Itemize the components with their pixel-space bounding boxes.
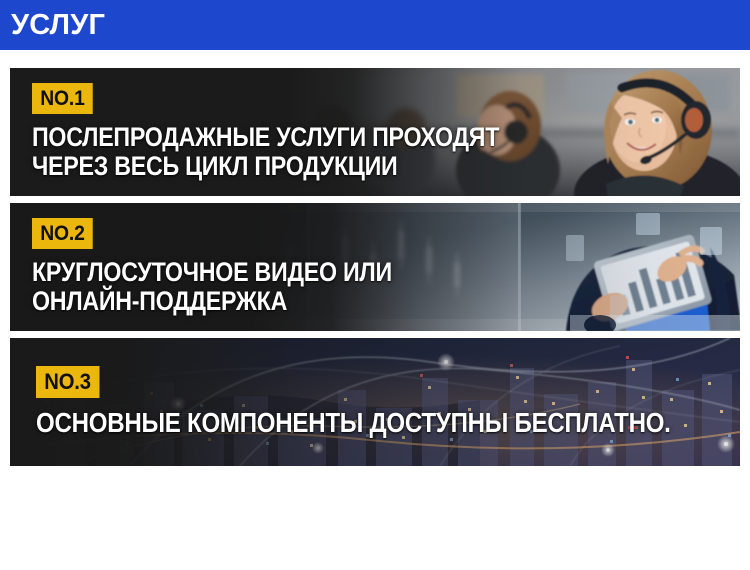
banner-content: NO.3 ОСНОВНЫЕ КОМПОНЕНТЫ ДОСТУПНЫ БЕСПЛА… [36,338,740,466]
banner-stack: NO.1 ПОСЛЕПРОДАЖНЫЕ УСЛУГИ ПРОХОДЯТ ЧЕРЕ… [10,68,740,473]
banner-headline: ОСНОВНЫЕ КОМПОНЕНТЫ ДОСТУПНЫ БЕСПЛАТНО. [36,408,740,438]
services-page: УСЛУГ [0,0,750,570]
banner-headline-line: ОСНОВНЫЕ КОМПОНЕНТЫ ДОСТУПНЫ БЕСПЛАТНО. [36,408,671,438]
banner-headline-line: ЧЕРЕЗ ВЕСЬ ЦИКЛ ПРОДУКЦИИ [32,152,499,181]
banner-headline-line: ПОСЛЕПРОДАЖНЫЕ УСЛУГИ ПРОХОДЯТ [32,123,499,152]
banner-headline-line: КРУГЛОСУТОЧНОЕ ВИДЕО ИЛИ [32,258,392,287]
banner-content: NO.2 КРУГЛОСУТОЧНОЕ ВИДЕО ИЛИ ОНЛАЙН-ПОД… [32,203,450,331]
banner-headline: КРУГЛОСУТОЧНОЕ ВИДЕО ИЛИ ОНЛАЙН-ПОДДЕРЖК… [32,258,450,316]
banner-rank-badge: NO.2 [32,218,93,249]
banner-rank-badge: NO.3 [36,366,99,398]
banner-headline-line: ОНЛАЙН-ПОДДЕРЖКА [32,287,392,316]
service-banner-1[interactable]: NO.1 ПОСЛЕПРОДАЖНЫЕ УСЛУГИ ПРОХОДЯТ ЧЕРЕ… [10,68,740,196]
banner-headline: ПОСЛЕПРОДАЖНЫЕ УСЛУГИ ПРОХОДЯТ ЧЕРЕЗ ВЕС… [32,123,575,181]
banner-content: NO.1 ПОСЛЕПРОДАЖНЫЕ УСЛУГИ ПРОХОДЯТ ЧЕРЕ… [32,68,575,196]
service-banner-3[interactable]: NO.3 ОСНОВНЫЕ КОМПОНЕНТЫ ДОСТУПНЫ БЕСПЛА… [10,338,740,466]
page-title: УСЛУГ [11,11,105,40]
page-header: УСЛУГ [0,0,750,50]
banner-rank-badge: NO.1 [32,83,93,114]
service-banner-2[interactable]: NO.2 КРУГЛОСУТОЧНОЕ ВИДЕО ИЛИ ОНЛАЙН-ПОД… [10,203,740,331]
